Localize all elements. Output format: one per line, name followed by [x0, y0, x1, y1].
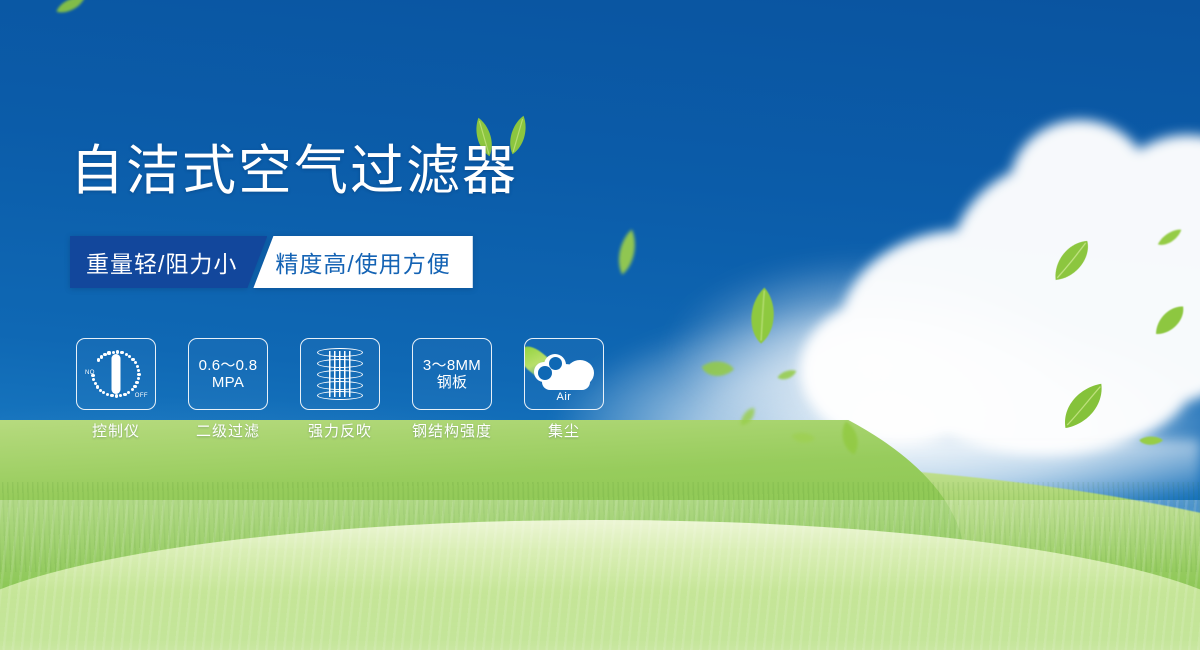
feature-icon-row: NO OFF 控制仪 0.6～0.8 MPA 二级过滤 — [76, 338, 604, 441]
filter-coil-icon — [316, 346, 364, 402]
steel-line-1: 3～8MM — [423, 357, 481, 374]
steel-line-2: 钢板 — [423, 374, 481, 391]
feature-label: 钢结构强度 — [412, 420, 492, 441]
steel-text-icon: 3～8MM 钢板 — [423, 357, 481, 392]
tagline-left: 重量轻/阻力小 — [70, 236, 267, 288]
product-hero-banner: 自洁式空气过滤器 重量轻/阻力小 精度高/使用方便 NO OFF 控制仪 — [0, 0, 1200, 650]
feature-item-two-stage-filter[interactable]: 0.6～0.8 MPA 二级过滤 — [188, 338, 268, 441]
air-cloud-icon: Air — [532, 348, 596, 400]
pressure-text-icon: 0.6～0.8 MPA — [199, 357, 258, 392]
tagline-right: 精度高/使用方便 — [253, 236, 472, 288]
feature-label: 二级过滤 — [196, 420, 260, 441]
feature-label: 集尘 — [548, 420, 580, 441]
feature-icon-box: Air — [524, 338, 604, 410]
feature-label: 强力反吹 — [308, 420, 372, 441]
air-icon-text: Air — [532, 391, 596, 403]
feature-item-dust-collection[interactable]: Air 集尘 — [524, 338, 604, 441]
feature-icon-box: 0.6～0.8 MPA — [188, 338, 268, 410]
pressure-line-2: MPA — [199, 374, 258, 391]
gauge-icon: NO OFF — [85, 345, 147, 403]
pressure-line-1: 0.6～0.8 — [199, 357, 258, 374]
feature-icon-box: 3～8MM 钢板 — [412, 338, 492, 410]
tagline-strip: 重量轻/阻力小 精度高/使用方便 — [70, 236, 473, 288]
feature-item-steel-strength[interactable]: 3～8MM 钢板 钢结构强度 — [412, 338, 492, 441]
page-title: 自洁式空气过滤器 — [70, 144, 518, 198]
feature-icon-box — [300, 338, 380, 410]
gauge-label-off: OFF — [135, 393, 148, 399]
feature-icon-box: NO OFF — [76, 338, 156, 410]
banner-content: 自洁式空气过滤器 重量轻/阻力小 精度高/使用方便 NO OFF 控制仪 — [0, 0, 1200, 650]
feature-item-controller[interactable]: NO OFF 控制仪 — [76, 338, 156, 441]
feature-label: 控制仪 — [92, 420, 140, 441]
feature-item-strong-backblow[interactable]: 强力反吹 — [300, 338, 380, 441]
